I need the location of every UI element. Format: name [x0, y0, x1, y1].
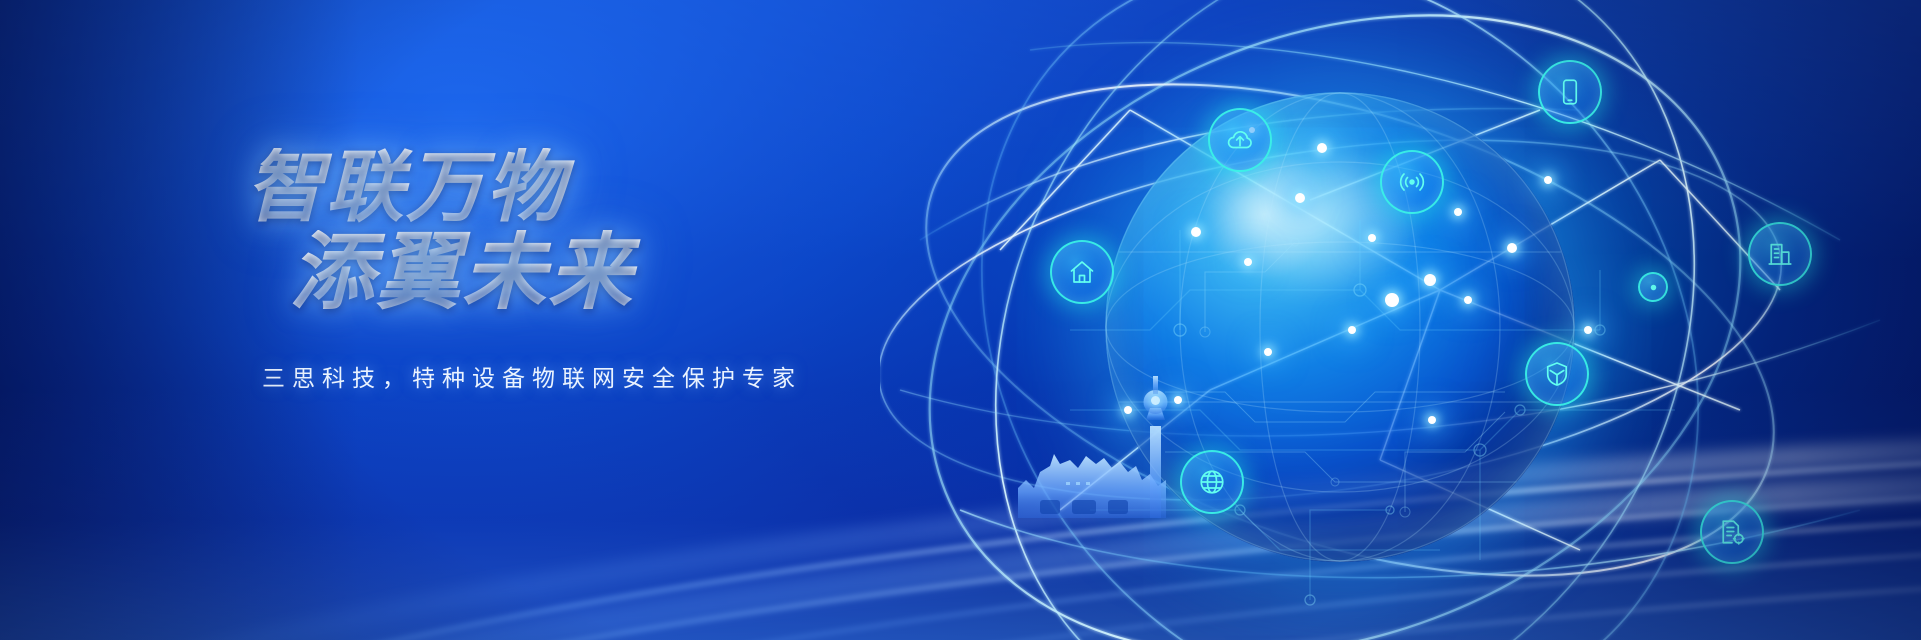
- building-icon[interactable]: [1748, 222, 1812, 286]
- glow-node: [1348, 326, 1356, 334]
- globe-sphere: [1105, 92, 1575, 562]
- mobile-phone-icon[interactable]: [1538, 60, 1602, 124]
- glow-node: [1368, 234, 1376, 242]
- glow-node: [1454, 208, 1462, 216]
- glow-node: [1174, 396, 1182, 404]
- glow-node: [1507, 243, 1517, 253]
- cloud-upload-icon[interactable]: [1208, 108, 1272, 172]
- headline-line-2: 添翼未来: [290, 230, 966, 316]
- glow-node: [1264, 348, 1272, 356]
- glow-node: [1544, 176, 1552, 184]
- glow-node: [1244, 258, 1252, 266]
- node-dot-icon[interactable]: [1638, 272, 1668, 302]
- globe-rim: [1105, 92, 1575, 562]
- glow-node: [1464, 296, 1472, 304]
- digital-globe: [1105, 92, 1575, 562]
- globe-network-icon[interactable]: [1180, 450, 1244, 514]
- wireless-signal-icon[interactable]: [1380, 150, 1444, 214]
- floor-glow: [0, 390, 1921, 640]
- tower-spark: [1151, 396, 1160, 405]
- shield-icon[interactable]: [1525, 342, 1589, 406]
- document-gear-icon[interactable]: [1700, 500, 1764, 564]
- home-icon[interactable]: [1050, 240, 1114, 304]
- glow-node: [1424, 274, 1436, 286]
- glow-node: [1317, 143, 1327, 153]
- glow-node: [1191, 227, 1201, 237]
- tech-banner: 智联万物 添翼未来 三思科技，特种设备物联网安全保护专家: [0, 0, 1921, 640]
- banner-subtitle: 三思科技，特种设备物联网安全保护专家: [262, 359, 966, 393]
- glow-node: [1428, 416, 1436, 424]
- headline-line-1: 智联万物: [246, 148, 966, 228]
- glow-node: [1124, 406, 1132, 414]
- glow-node: [1295, 193, 1305, 203]
- glow-node: [1385, 293, 1399, 307]
- banner-text-block: 智联万物 添翼未来 三思科技，特种设备物联网安全保护专家: [246, 148, 966, 393]
- glow-node: [1584, 326, 1592, 334]
